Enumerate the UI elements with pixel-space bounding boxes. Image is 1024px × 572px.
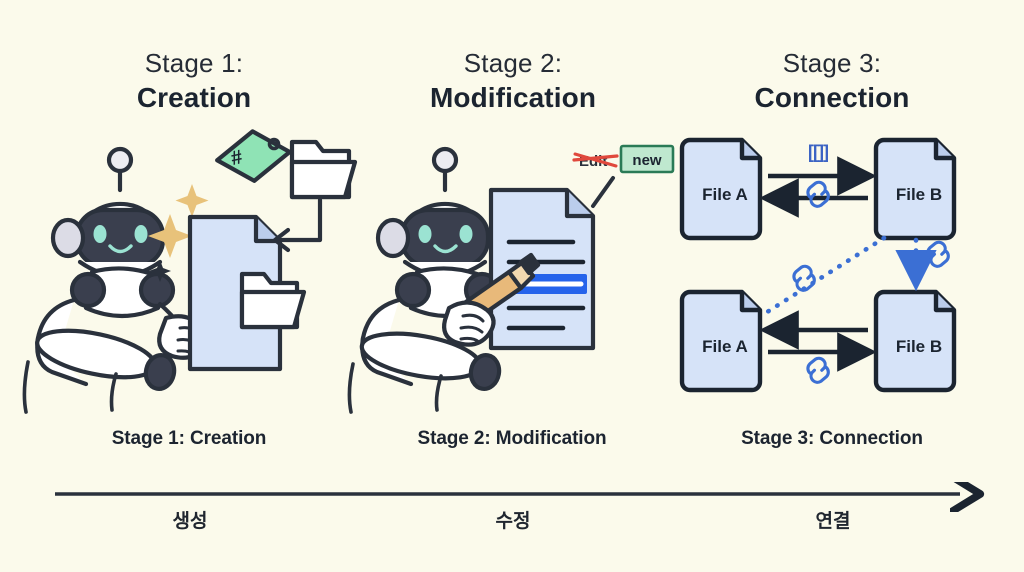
illustration-stage-1: # [20, 122, 350, 407]
robot-hand-right [444, 302, 493, 344]
link-chain-icon-top [808, 182, 828, 206]
robot-forearm-left [33, 322, 159, 386]
caption-stage-2: Stage 2: Modification [347, 428, 677, 450]
korean-label-stage-2: 수정 [348, 506, 678, 533]
robot-ear-left [53, 220, 83, 256]
link-chain-icon-bottom [808, 358, 828, 382]
new-label-text: new [632, 152, 662, 169]
stage-3-head-line2: Connection [667, 81, 997, 115]
illustration-stage-3: File A File B File A File B [[]] [672, 122, 1002, 407]
illustration-stage-2: Edit new [345, 122, 675, 407]
robot-visor [402, 210, 488, 266]
annotation-pointer-line [593, 178, 613, 206]
robot-eye-left [94, 225, 107, 243]
caption-stage-1: Stage 1: Creation [24, 428, 354, 450]
robot-eye-left [419, 225, 432, 243]
tag-icon: # [212, 123, 294, 189]
korean-label-stage-3: 연결 [668, 506, 998, 533]
file-node-label: File B [896, 337, 942, 356]
robot-visor [77, 210, 163, 266]
file-node-bottom-left: File A [682, 292, 760, 390]
sparkle-medium-icon [176, 184, 209, 217]
file-node-label: File A [702, 185, 748, 204]
stage-3-head-line1: Stage 3: [667, 48, 997, 78]
wikilink-label: [[]] [808, 142, 828, 162]
robot-shoulder-left [397, 274, 429, 306]
caption-stage-3: Stage 3: Connection [667, 428, 997, 450]
diagram-canvas: Stage 1: Creation Stage 2: Modification … [0, 0, 1024, 572]
edited-document-icon [491, 190, 593, 348]
robot-ear-left [378, 220, 408, 256]
robot-eye-right [135, 225, 148, 243]
robot-shoulder-right [141, 274, 173, 306]
folder-front-icon [242, 274, 304, 327]
column-header-stage-3: Stage 3: Connection [667, 48, 997, 115]
edit-replacement-annotation: Edit new [574, 146, 673, 206]
column-header-stage-2: Stage 2: Modification [348, 48, 678, 115]
robot-antenna-bulb [434, 149, 456, 171]
column-header-stage-1: Stage 1: Creation [29, 48, 359, 115]
stage-1-head-line1: Stage 1: [29, 48, 359, 78]
dotted-diagonal-connector [764, 238, 884, 314]
file-node-top-right: File B [876, 140, 954, 238]
file-node-bottom-right: File B [876, 292, 954, 390]
link-chain-icon-vertical [928, 242, 948, 266]
stage-1-head-line2: Creation [29, 81, 359, 115]
stage-2-head-line2: Modification [348, 81, 678, 115]
robot-shoulder-left [72, 274, 104, 306]
robot-antenna-bulb [109, 149, 131, 171]
file-node-label: File B [896, 185, 942, 204]
file-node-label: File A [702, 337, 748, 356]
robot-eye-right [460, 225, 473, 243]
korean-label-stage-1: 생성 [25, 506, 355, 533]
file-node-top-left: File A [682, 140, 760, 238]
stage-2-head-line1: Stage 2: [348, 48, 678, 78]
